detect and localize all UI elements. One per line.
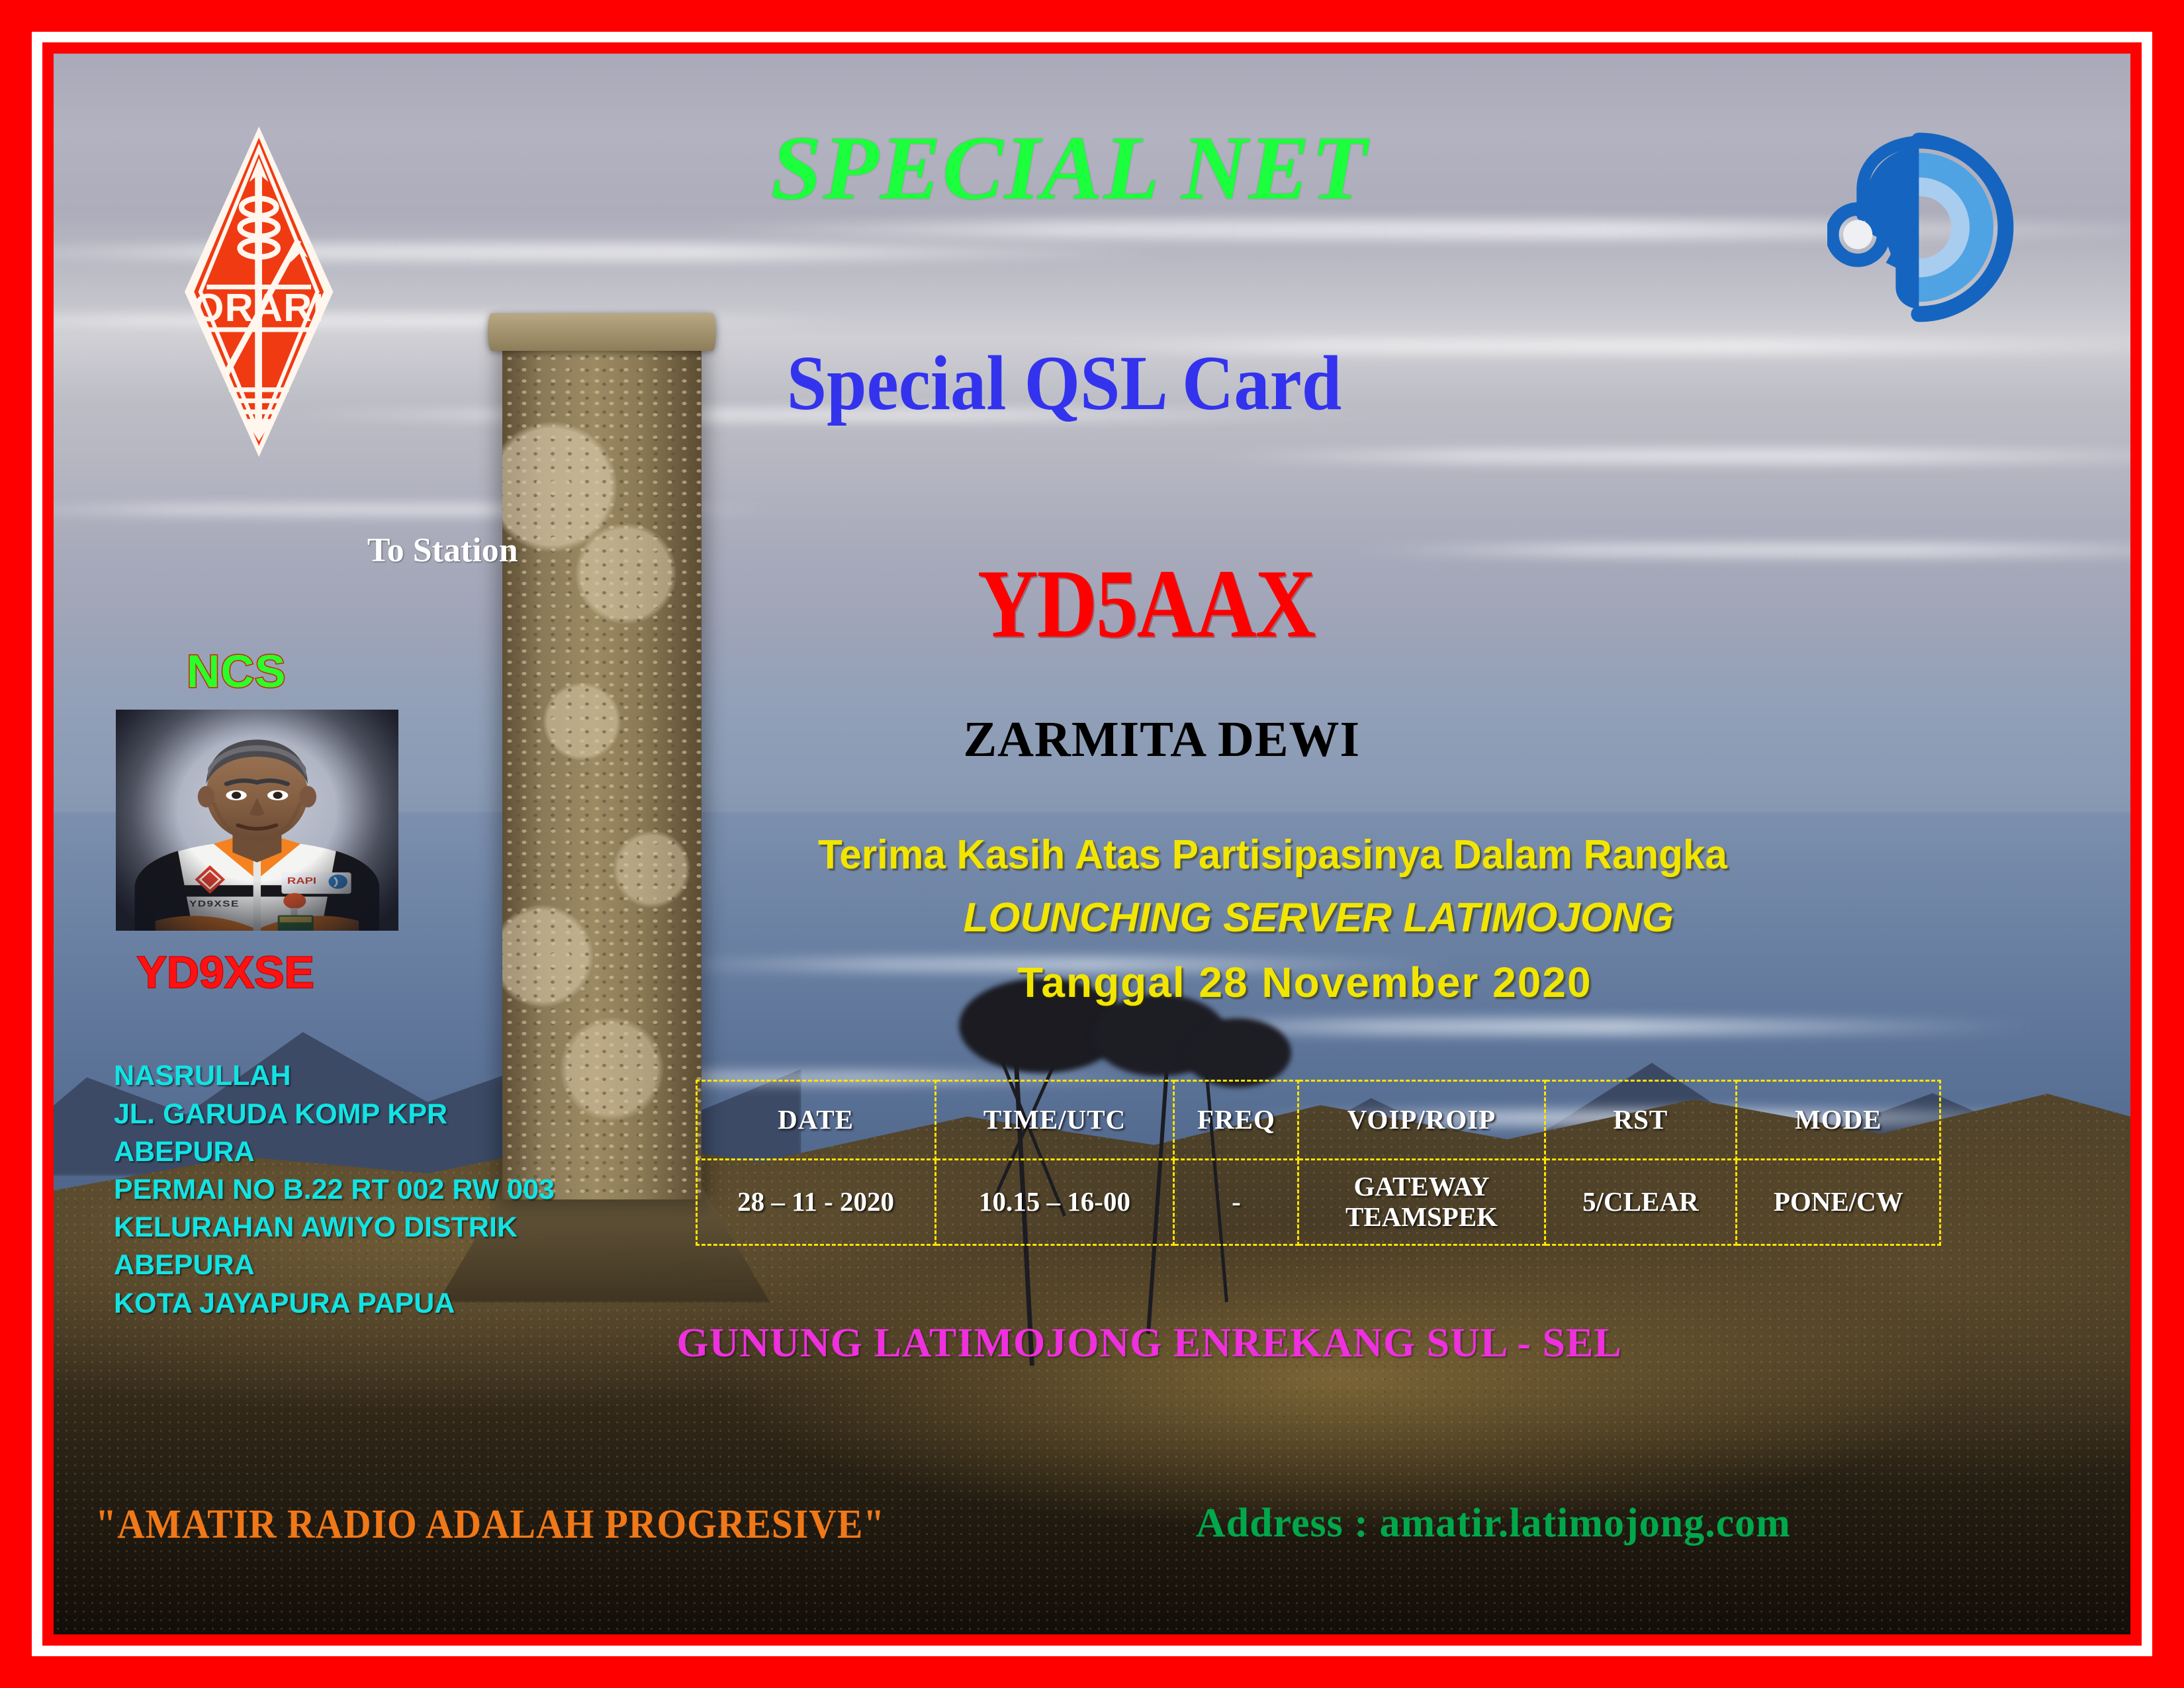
cell-rst: 5/CLEAR: [1545, 1159, 1736, 1244]
event-line: LOUNCHING SERVER LATIMOJONG: [963, 894, 1674, 941]
card-border-red-inner: ORARI: [42, 42, 2142, 1646]
card-border-white: ORARI: [32, 32, 2152, 1656]
qsl-card: ORARI: [0, 0, 2184, 1688]
column-header-time: TIME/UTC: [935, 1080, 1174, 1159]
column-header-mode: MODE: [1737, 1080, 1940, 1159]
svg-text:ORARI: ORARI: [193, 285, 324, 330]
column-header-rst: RST: [1545, 1080, 1736, 1159]
station-address: NASRULLAH JL. GARUDA KOMP KPR ABEPURA PE…: [114, 1057, 555, 1322]
address-line: JL. GARUDA KOMP KPR: [114, 1096, 555, 1133]
address-line: NASRULLAH: [114, 1057, 555, 1095]
background-photograph: ORARI: [54, 54, 2130, 1634]
table-row: 28 – 11 - 2020 10.15 – 16-00 - GATEWAY T…: [696, 1159, 1940, 1244]
qth-location-line: GUNUNG LATIMOJONG ENREKANG SUL - SEL: [676, 1320, 1621, 1367]
page-subtitle: Special QSL Card: [109, 338, 2020, 428]
event-date-line: Tanggal 28 November 2020: [1017, 958, 1592, 1007]
column-header-voip: VOIP/ROIP: [1298, 1080, 1545, 1159]
recipient-callsign: YD5AAX: [978, 547, 1314, 660]
address-line: ABEPURA: [114, 1133, 555, 1171]
to-station-label: To Station: [367, 531, 518, 570]
website-address: Address : amatir.latimojong.com: [1196, 1500, 1791, 1547]
cell-freq: -: [1174, 1159, 1298, 1244]
ncs-callsign: YD9XSE: [137, 947, 314, 998]
address-line: ABEPURA: [114, 1246, 555, 1284]
motto-text: "AMATIR RADIO ADALAH PROGRESIVE": [95, 1501, 885, 1548]
column-header-freq: FREQ: [1174, 1080, 1298, 1159]
address-line: KOTA JAYAPURA PAPUA: [114, 1285, 555, 1323]
table-header-row: DATE TIME/UTC FREQ VOIP/ROIP RST MODE: [696, 1080, 1940, 1159]
cell-time: 10.15 – 16-00: [935, 1159, 1174, 1244]
thanks-line: Terima Kasih Atas Partisipasinya Dalam R…: [818, 831, 1727, 878]
qso-log-table: DATE TIME/UTC FREQ VOIP/ROIP RST MODE 28…: [696, 1080, 1942, 1246]
cell-date: 28 – 11 - 2020: [696, 1159, 935, 1244]
address-line: PERMAI NO B.22 RT 002 RW 003: [114, 1171, 555, 1209]
bare-tree-canopy-3: [1183, 1018, 1291, 1088]
cell-voip: GATEWAY TEAMSPEK: [1298, 1159, 1545, 1244]
column-header-date: DATE: [696, 1080, 935, 1159]
recipient-operator-name: ZARMITA DEWI: [963, 711, 1360, 769]
ncs-operator-portrait: YD9XSE RAPI: [116, 710, 398, 931]
address-line: KELURAHAN AWIYO DISTRIK: [114, 1209, 555, 1246]
cell-mode: PONE/CW: [1737, 1159, 1940, 1244]
ncs-label: NCS: [187, 645, 287, 698]
page-title: SPECIAL NET: [54, 115, 2108, 220]
